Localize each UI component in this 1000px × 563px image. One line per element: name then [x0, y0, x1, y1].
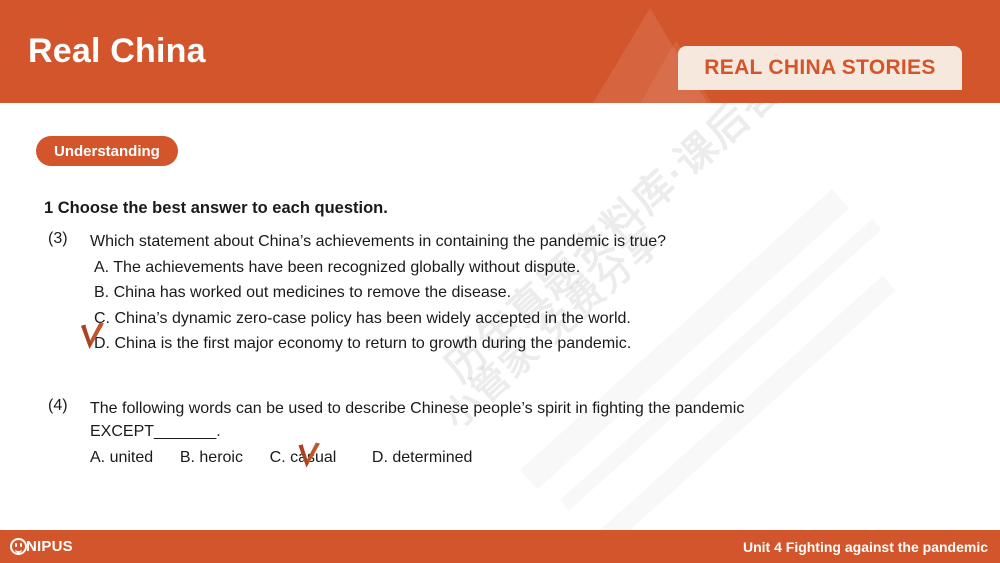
option-c[interactable]: C. China’s dynamic zero-case policy has …	[94, 306, 666, 331]
question-4-options-inline[interactable]: A. united B. heroic C. casual D. determi…	[90, 449, 920, 467]
footer-unit-label: Unit 4 Fighting against the pandemic	[743, 539, 988, 555]
question-3-stem-row: (3) Which statement about China’s achiev…	[48, 230, 666, 253]
slide-root: 历年真题资料库·课后答案资料尽在 小管家·免费分享 Real China REA…	[0, 0, 1000, 563]
option-b[interactable]: B. China has worked out medicines to rem…	[94, 280, 666, 305]
question-4-stem-line2: EXCEPT_______.	[90, 420, 920, 443]
option-a[interactable]: A. The achievements have been recognized…	[94, 255, 666, 280]
understanding-label: Understanding	[54, 143, 160, 160]
slide-footer: NIPUS Unit 4 Fighting against the pandem…	[0, 530, 1000, 563]
option-d[interactable]: D. China is the first major economy to r…	[94, 331, 666, 356]
question-block-3: (3) Which statement about China’s achiev…	[48, 230, 666, 356]
smiley-face-icon	[10, 538, 27, 555]
slide-header: Real China REAL CHINA STORIES	[0, 0, 1000, 103]
task-heading: 1 Choose the best answer to each questio…	[44, 199, 388, 218]
smile-arc	[15, 548, 22, 554]
question-4-stem: The following words can be used to descr…	[90, 397, 920, 420]
page-title: Real China	[28, 32, 206, 71]
understanding-section-pill[interactable]: Understanding	[36, 136, 178, 166]
question-3-options: A. The achievements have been recognized…	[94, 255, 666, 356]
real-china-stories-badge: REAL CHINA STORIES	[678, 46, 962, 90]
question-4-number: (4)	[48, 397, 90, 415]
question-3-stem: Which statement about China’s achievemen…	[90, 230, 666, 253]
stories-badge-label: REAL CHINA STORIES	[704, 56, 935, 80]
question-3-number: (3)	[48, 230, 90, 248]
question-4-stem-row: (4) The following words can be used to d…	[48, 397, 920, 420]
unipus-logo-text: NIPUS	[26, 538, 73, 555]
question-block-4: (4) The following words can be used to d…	[48, 397, 920, 467]
unipus-logo[interactable]: NIPUS	[10, 538, 73, 555]
